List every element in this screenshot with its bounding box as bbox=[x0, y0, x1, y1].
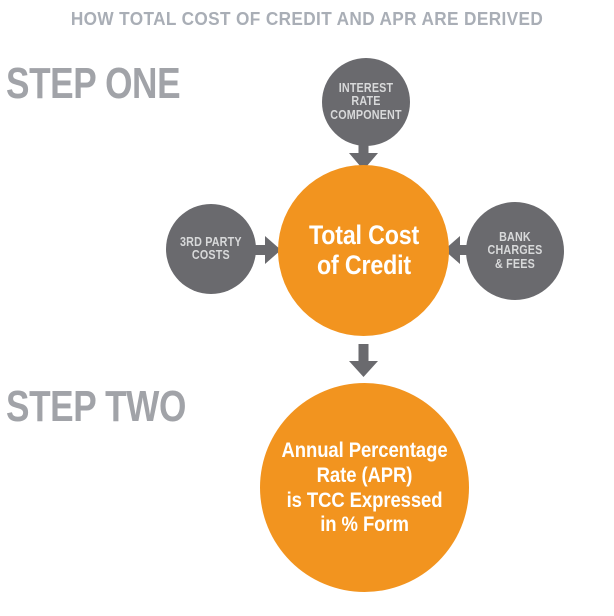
step-one-label: STEP ONE bbox=[6, 62, 180, 106]
node-third-party-costs-label: 3RD PARTY COSTS bbox=[180, 236, 242, 263]
node-interest-rate-component[interactable]: INTEREST RATE COMPONENT bbox=[322, 58, 410, 146]
node-bank-charges-and-fees-label: BANK CHARGES & FEES bbox=[473, 231, 557, 271]
node-interest-rate-component-label: INTEREST RATE COMPONENT bbox=[328, 82, 404, 122]
node-total-cost-of-credit-label: Total Cost of Credit bbox=[308, 221, 418, 279]
infographic-canvas: HOW TOTAL COST OF CREDIT AND APR ARE DER… bbox=[0, 0, 614, 616]
node-bank-charges-and-fees[interactable]: BANK CHARGES & FEES bbox=[466, 202, 564, 300]
node-total-cost-of-credit[interactable]: Total Cost of Credit bbox=[278, 165, 449, 336]
arrow-down-total-cost-to-apr bbox=[348, 344, 379, 383]
step-two-label: STEP TWO bbox=[6, 385, 186, 429]
node-annual-percentage-rate[interactable]: Annual Percentage Rate (APR) is TCC Expr… bbox=[260, 383, 469, 592]
node-third-party-costs[interactable]: 3RD PARTY COSTS bbox=[166, 204, 256, 294]
node-annual-percentage-rate-label: Annual Percentage Rate (APR) is TCC Expr… bbox=[281, 438, 447, 537]
page-title: HOW TOTAL COST OF CREDIT AND APR ARE DER… bbox=[21, 10, 592, 29]
